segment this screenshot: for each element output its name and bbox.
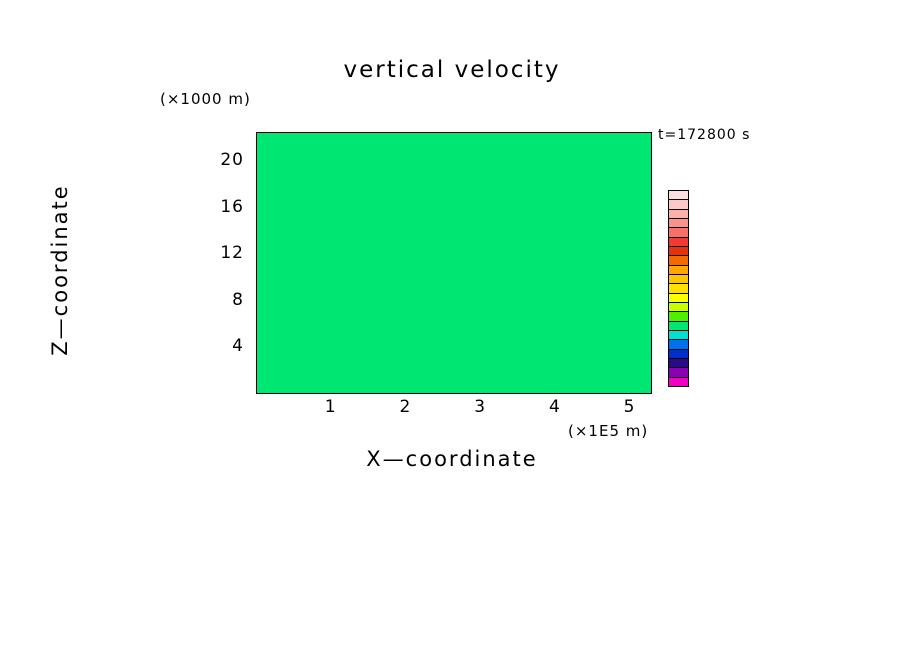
x-tick-label: 2: [385, 397, 425, 417]
colorbar-band: [669, 237, 688, 246]
x-tick-label: 4: [535, 397, 575, 417]
colorbar-band: [669, 339, 688, 348]
colorbar-band: [669, 283, 688, 292]
colorbar-band: [669, 218, 688, 227]
colorbar-band: [669, 302, 688, 311]
colorbar-band: [669, 209, 688, 218]
colorbar-band: [669, 349, 688, 358]
colorbar-band: [669, 377, 688, 386]
x-axis-ticks: 12345: [0, 0, 904, 654]
x-tick-label: 5: [610, 397, 650, 417]
x-tick-label: 3: [460, 397, 500, 417]
colorbar-band: [669, 358, 688, 367]
colorbar-band: [669, 321, 688, 330]
colorbar-band: [669, 255, 688, 264]
colorbar-band: [669, 227, 688, 236]
colorbar-band: [669, 199, 688, 208]
colorbar-band: [669, 246, 688, 255]
colorbar: [668, 190, 689, 387]
colorbar-band: [669, 293, 688, 302]
x-tick-label: 1: [311, 397, 351, 417]
colorbar-band: [669, 330, 688, 339]
colorbar-band: [669, 311, 688, 320]
colorbar-band: [669, 265, 688, 274]
colorbar-band: [669, 274, 688, 283]
colorbar-band: [669, 191, 688, 199]
colorbar-band: [669, 367, 688, 376]
